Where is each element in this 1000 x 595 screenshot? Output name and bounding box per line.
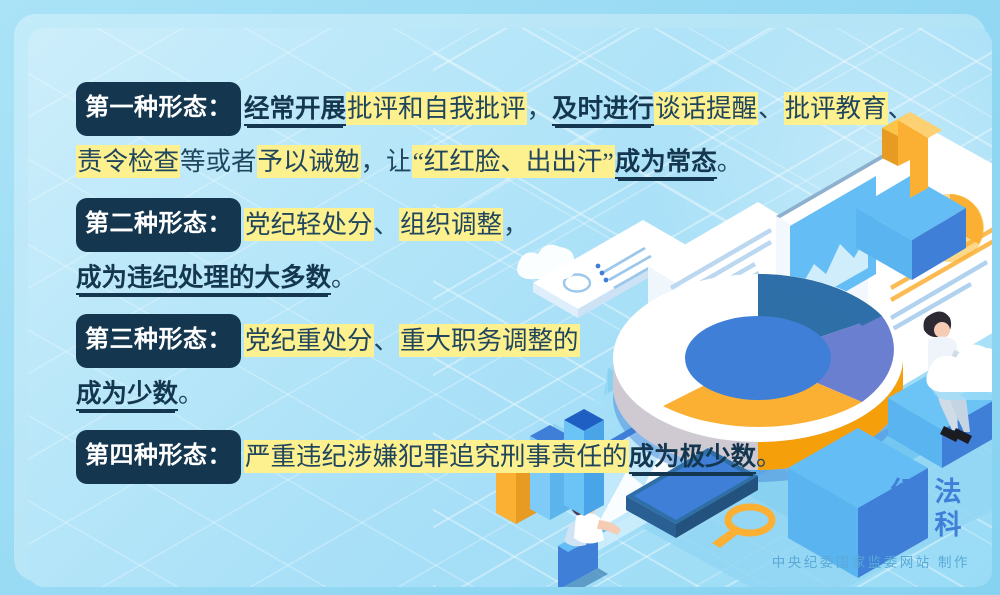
seg-1-1-7: 批评教育	[784, 92, 888, 125]
form-item-1-line-1: 第一种形态：经常开展批评和自我批评，及时进行谈话提醒、批评教育、	[76, 84, 936, 138]
form-item-1-line-2: 责令检查等或者予以诫勉，让“红红脸、出出汗”成为常态。	[76, 138, 936, 186]
seg-1-2-2: 等或者	[180, 147, 257, 176]
form-item-3-tag: 第三种形态：	[76, 314, 241, 368]
seg-3-1-1: 党纪重处分	[244, 324, 374, 357]
form-item-4-line-1: 第四种形态：严重违纪涉嫌犯罪追究刑事责任的成为极少数。	[76, 432, 936, 486]
logo-char-ke-text: 科	[935, 503, 962, 542]
form-item-2-line-2: 成为违纪处理的大多数。	[76, 254, 936, 302]
form-item-2-tag: 第二种形态：	[76, 198, 241, 252]
logo-char-bai: 百	[882, 506, 926, 539]
seg-2-1-2: 、	[374, 210, 400, 239]
seg-1-1-3: ，	[527, 94, 553, 123]
form-item-4: 第四种形态：严重违纪涉嫌犯罪追究刑事责任的成为极少数。	[76, 432, 936, 486]
seg-4-1-2: 成为极少数	[629, 442, 757, 474]
form-item-2-line-1: 第二种形态：党纪轻处分、组织调整，	[76, 200, 936, 254]
seg-2-1-4: ，	[503, 210, 529, 239]
poster-inner-panel: 第一种形态：经常开展批评和自我批评，及时进行谈话提醒、批评教育、 责令检查等或者…	[28, 28, 992, 587]
seg-3-2-2: 。	[178, 379, 204, 408]
form-item-2: 第二种形态：党纪轻处分、组织调整， 成为违纪处理的大多数。	[76, 200, 936, 302]
seg-4-1-3: 。	[756, 442, 782, 471]
form-item-4-tag: 第四种形态：	[76, 430, 241, 484]
seg-1-2-6: 成为常态	[615, 147, 717, 179]
seg-1-1-6: 、	[758, 94, 784, 123]
seg-1-2-4: ，让	[361, 147, 412, 176]
seg-1-2-7: 。	[717, 147, 743, 176]
poster-canvas: 第一种形态：经常开展批评和自我批评，及时进行谈话提醒、批评教育、 责令检查等或者…	[0, 0, 1000, 595]
seg-1-1-1: 经常开展	[244, 94, 346, 126]
seg-1-2-1: 责令检查	[76, 145, 180, 178]
seg-1-1-2: 批评和自我批评	[346, 92, 527, 125]
form-item-3-line-2: 成为少数。	[76, 370, 936, 418]
form-item-3-line-1: 第三种形态：党纪重处分、重大职务调整的	[76, 316, 936, 370]
credit-line: 中央纪委国家监委网站 制作	[772, 551, 970, 571]
content-text-block: 第一种形态：经常开展批评和自我批评，及时进行谈话提醒、批评教育、 责令检查等或者…	[76, 84, 936, 486]
seg-2-1-3: 组织调整	[399, 208, 503, 241]
seg-3-1-3: 重大职务调整的	[399, 324, 580, 357]
logo-char-fa: 法	[926, 473, 970, 506]
seg-1-1-4: 及时进行	[552, 94, 654, 126]
seg-4-1-1: 严重违纪涉嫌犯罪追究刑事责任的	[244, 440, 629, 473]
seg-1-2-3: 予以诫勉	[257, 145, 361, 178]
brand-logo: 纪 法 百 科	[882, 473, 974, 541]
form-item-1: 第一种形态：经常开展批评和自我批评，及时进行谈话提醒、批评教育、 责令检查等或者…	[76, 84, 936, 186]
seg-2-2-2: 。	[331, 263, 357, 292]
form-item-3: 第三种形态：党纪重处分、重大职务调整的 成为少数。	[76, 316, 936, 418]
seg-3-2-1: 成为少数	[76, 379, 178, 411]
seg-2-1-1: 党纪轻处分	[244, 208, 374, 241]
seg-1-1-8: 、	[888, 94, 914, 123]
seg-3-1-2: 、	[374, 326, 400, 355]
logo-char-ji: 纪	[882, 473, 926, 506]
play-triangle-icon	[900, 517, 909, 529]
form-item-1-tag: 第一种形态：	[76, 82, 241, 136]
seg-2-2-1: 成为违纪处理的大多数	[76, 263, 331, 295]
logo-char-ke: 科	[926, 506, 970, 539]
seg-1-1-5: 谈话提醒	[654, 92, 758, 125]
seg-1-2-5: “红红脸、出出汗”	[412, 145, 615, 178]
